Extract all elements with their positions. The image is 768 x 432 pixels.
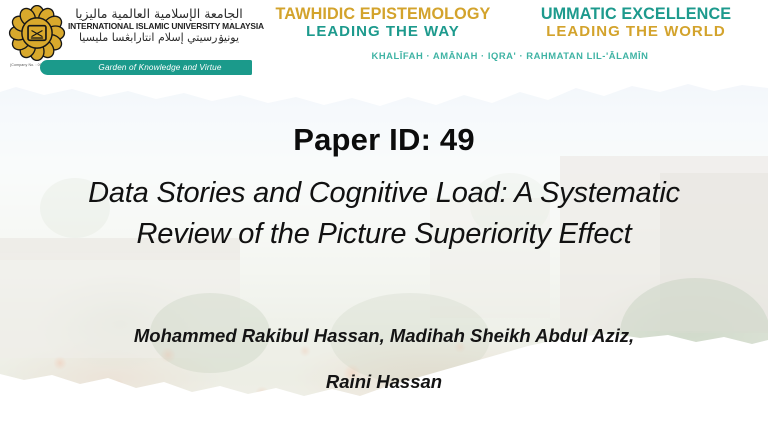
slogan-left-line1: TAWHIDIC EPISTEMOLOGY xyxy=(258,6,508,23)
iium-name-jawi: يونيۏرسيتي إسلام انتارابڠسا مليسيا xyxy=(68,32,250,44)
iium-logo-text: الجامعة الإسلامية العالمية ماليزيا INTER… xyxy=(68,7,250,44)
slogan-right-line2: LEADING THE WORLD xyxy=(510,24,762,41)
iium-motto-ribbon: Garden of Knowledge and Virtue xyxy=(40,60,252,75)
slogan-left: TAWHIDIC EPISTEMOLOGY LEADING THE WAY xyxy=(258,6,508,41)
iium-motto-text: Garden of Knowledge and Virtue xyxy=(70,63,221,72)
torn-edge-top xyxy=(0,72,768,118)
iium-name-english: INTERNATIONAL ISLAMIC UNIVERSITY MALAYSI… xyxy=(68,21,250,31)
iium-emblem-icon xyxy=(8,5,66,61)
torn-edge-bottom xyxy=(0,326,768,432)
presentation-slide: الجامعة الإسلامية العالمية ماليزيا INTER… xyxy=(0,0,768,432)
iium-name-arabic: الجامعة الإسلامية العالمية ماليزيا xyxy=(68,7,250,20)
iium-logo-lockup: الجامعة الإسلامية العالمية ماليزيا INTER… xyxy=(6,3,252,75)
slogan-left-line2: LEADING THE WAY xyxy=(258,24,508,41)
slide-header: الجامعة الإسلامية العالمية ماليزيا INTER… xyxy=(0,0,768,78)
slogan-right-line1: UMMATIC EXCELLENCE xyxy=(510,6,762,23)
header-slogans: TAWHIDIC EPISTEMOLOGY LEADING THE WAY UM… xyxy=(258,6,762,68)
slogan-right: UMMATIC EXCELLENCE LEADING THE WORLD xyxy=(510,6,762,41)
slogan-subtitle: KHALĪFAH · AMĀNAH · IQRA' · RAHMATAN LIL… xyxy=(258,50,762,61)
